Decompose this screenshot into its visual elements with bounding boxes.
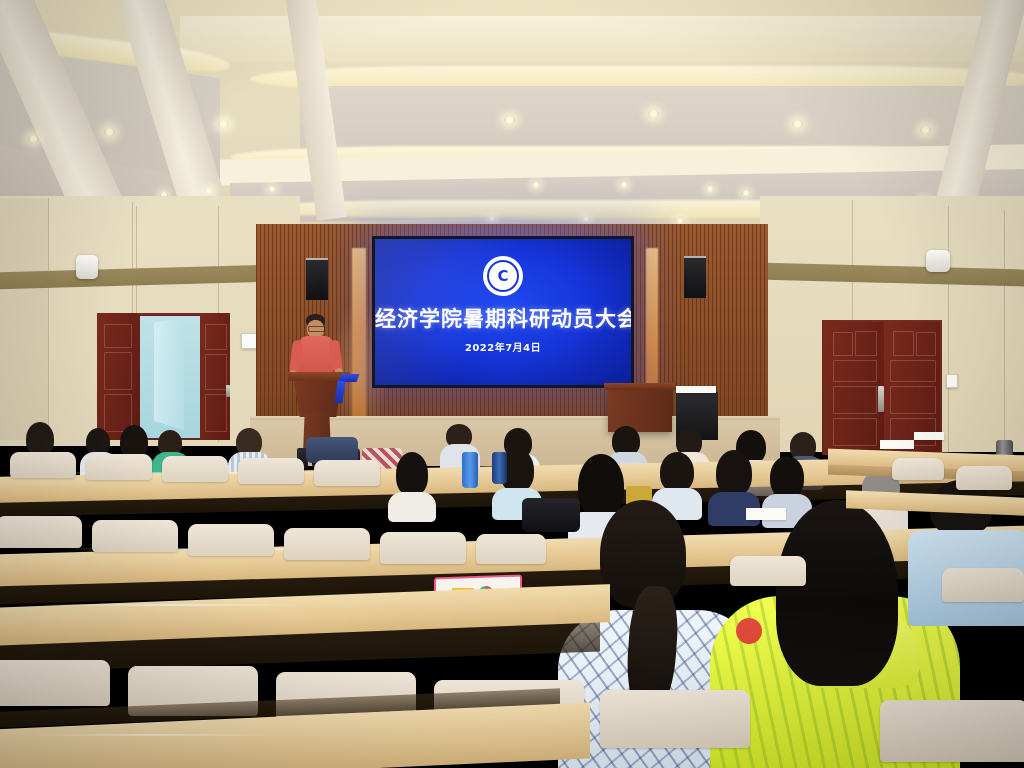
person-hair bbox=[770, 456, 804, 498]
chair[interactable] bbox=[0, 516, 82, 548]
right-wall-switch[interactable] bbox=[946, 374, 958, 388]
person-hair bbox=[776, 500, 898, 686]
door-panel bbox=[890, 386, 936, 414]
side-podium-body bbox=[608, 390, 672, 432]
stage-speaker-right bbox=[684, 256, 706, 298]
downlight bbox=[706, 186, 714, 192]
wall-seam bbox=[948, 206, 949, 452]
emblem-letter: C bbox=[487, 260, 519, 292]
chair[interactable] bbox=[10, 452, 76, 478]
door-panel bbox=[916, 332, 936, 356]
red-item-in-hand bbox=[736, 618, 762, 644]
led-screen: C 经济学院暑期科研动员大会 2022年7月4日 bbox=[372, 236, 634, 388]
door-panel bbox=[104, 352, 132, 390]
screen-date: 2022年7月4日 bbox=[375, 339, 631, 354]
person-hair bbox=[396, 452, 428, 496]
chair[interactable] bbox=[92, 520, 178, 552]
person-body bbox=[388, 492, 436, 522]
downlight bbox=[205, 188, 213, 194]
chair[interactable] bbox=[600, 690, 750, 748]
amber-light-strip-left bbox=[352, 248, 366, 434]
downlight bbox=[532, 182, 540, 188]
side-podium-desktop bbox=[604, 383, 676, 390]
downlight bbox=[28, 135, 39, 143]
downlight bbox=[792, 120, 803, 128]
downlight bbox=[920, 126, 931, 134]
door-panel bbox=[205, 354, 227, 390]
wall-panel-shade bbox=[0, 198, 48, 440]
black-handbag bbox=[522, 498, 580, 532]
person-hair bbox=[26, 422, 54, 456]
chair[interactable] bbox=[86, 454, 152, 480]
paper-sheet bbox=[914, 432, 944, 440]
chair[interactable] bbox=[238, 458, 304, 484]
stage-speaker-left bbox=[306, 258, 328, 300]
downlight bbox=[742, 190, 750, 196]
downlight bbox=[104, 128, 115, 136]
chair[interactable] bbox=[956, 466, 1012, 490]
downlight bbox=[504, 116, 515, 124]
wall-speaker-left-icon bbox=[76, 255, 98, 279]
water-bottle-dark bbox=[492, 452, 507, 484]
door-panel bbox=[833, 332, 853, 356]
chair[interactable] bbox=[380, 532, 466, 564]
door-panel bbox=[833, 360, 877, 382]
wall-seam bbox=[1004, 210, 1005, 452]
chair[interactable] bbox=[892, 458, 944, 480]
wall-speaker-right-icon bbox=[926, 250, 950, 272]
person-hair bbox=[578, 454, 624, 518]
chair[interactable] bbox=[730, 556, 806, 586]
door-panel bbox=[205, 324, 227, 350]
person-hair bbox=[660, 452, 694, 492]
downlight bbox=[268, 186, 276, 192]
downlight bbox=[218, 120, 229, 128]
door-panel bbox=[205, 394, 227, 432]
university-emblem-icon: C bbox=[483, 256, 523, 296]
lecture-hall-photo: C 经济学院暑期科研动员大会 2022年7月4日 bbox=[0, 0, 1024, 768]
chair[interactable] bbox=[942, 568, 1024, 602]
left-door-handle[interactable] bbox=[226, 385, 230, 397]
left-door-swinging-leaf[interactable] bbox=[154, 318, 184, 430]
downlight bbox=[648, 110, 659, 118]
chair[interactable] bbox=[162, 456, 228, 482]
chair[interactable] bbox=[284, 528, 370, 560]
desk-highlight bbox=[40, 604, 300, 606]
water-bottle-blue bbox=[462, 452, 478, 488]
av-cabinet-papers bbox=[676, 386, 716, 393]
chair[interactable] bbox=[880, 700, 1024, 762]
person-hair bbox=[716, 450, 752, 496]
chair[interactable] bbox=[476, 534, 546, 564]
door-panel bbox=[833, 386, 877, 414]
chair[interactable] bbox=[188, 524, 274, 556]
paper-sheet bbox=[746, 508, 786, 520]
right-door-push-bar[interactable] bbox=[878, 386, 884, 412]
door-panel bbox=[893, 331, 914, 356]
chair[interactable] bbox=[314, 460, 380, 486]
chair[interactable] bbox=[0, 660, 110, 706]
door-panel bbox=[855, 331, 877, 356]
door-panel bbox=[890, 360, 936, 382]
paper-sheet bbox=[880, 440, 914, 449]
downlight bbox=[620, 182, 628, 188]
door-panel bbox=[104, 324, 132, 348]
desk-highlight bbox=[30, 734, 270, 736]
wall-seam bbox=[48, 198, 49, 438]
screen-title: 经济学院暑期科研动员大会 bbox=[375, 303, 631, 333]
presenter-glasses-icon bbox=[308, 326, 325, 332]
door-panel bbox=[833, 418, 877, 446]
